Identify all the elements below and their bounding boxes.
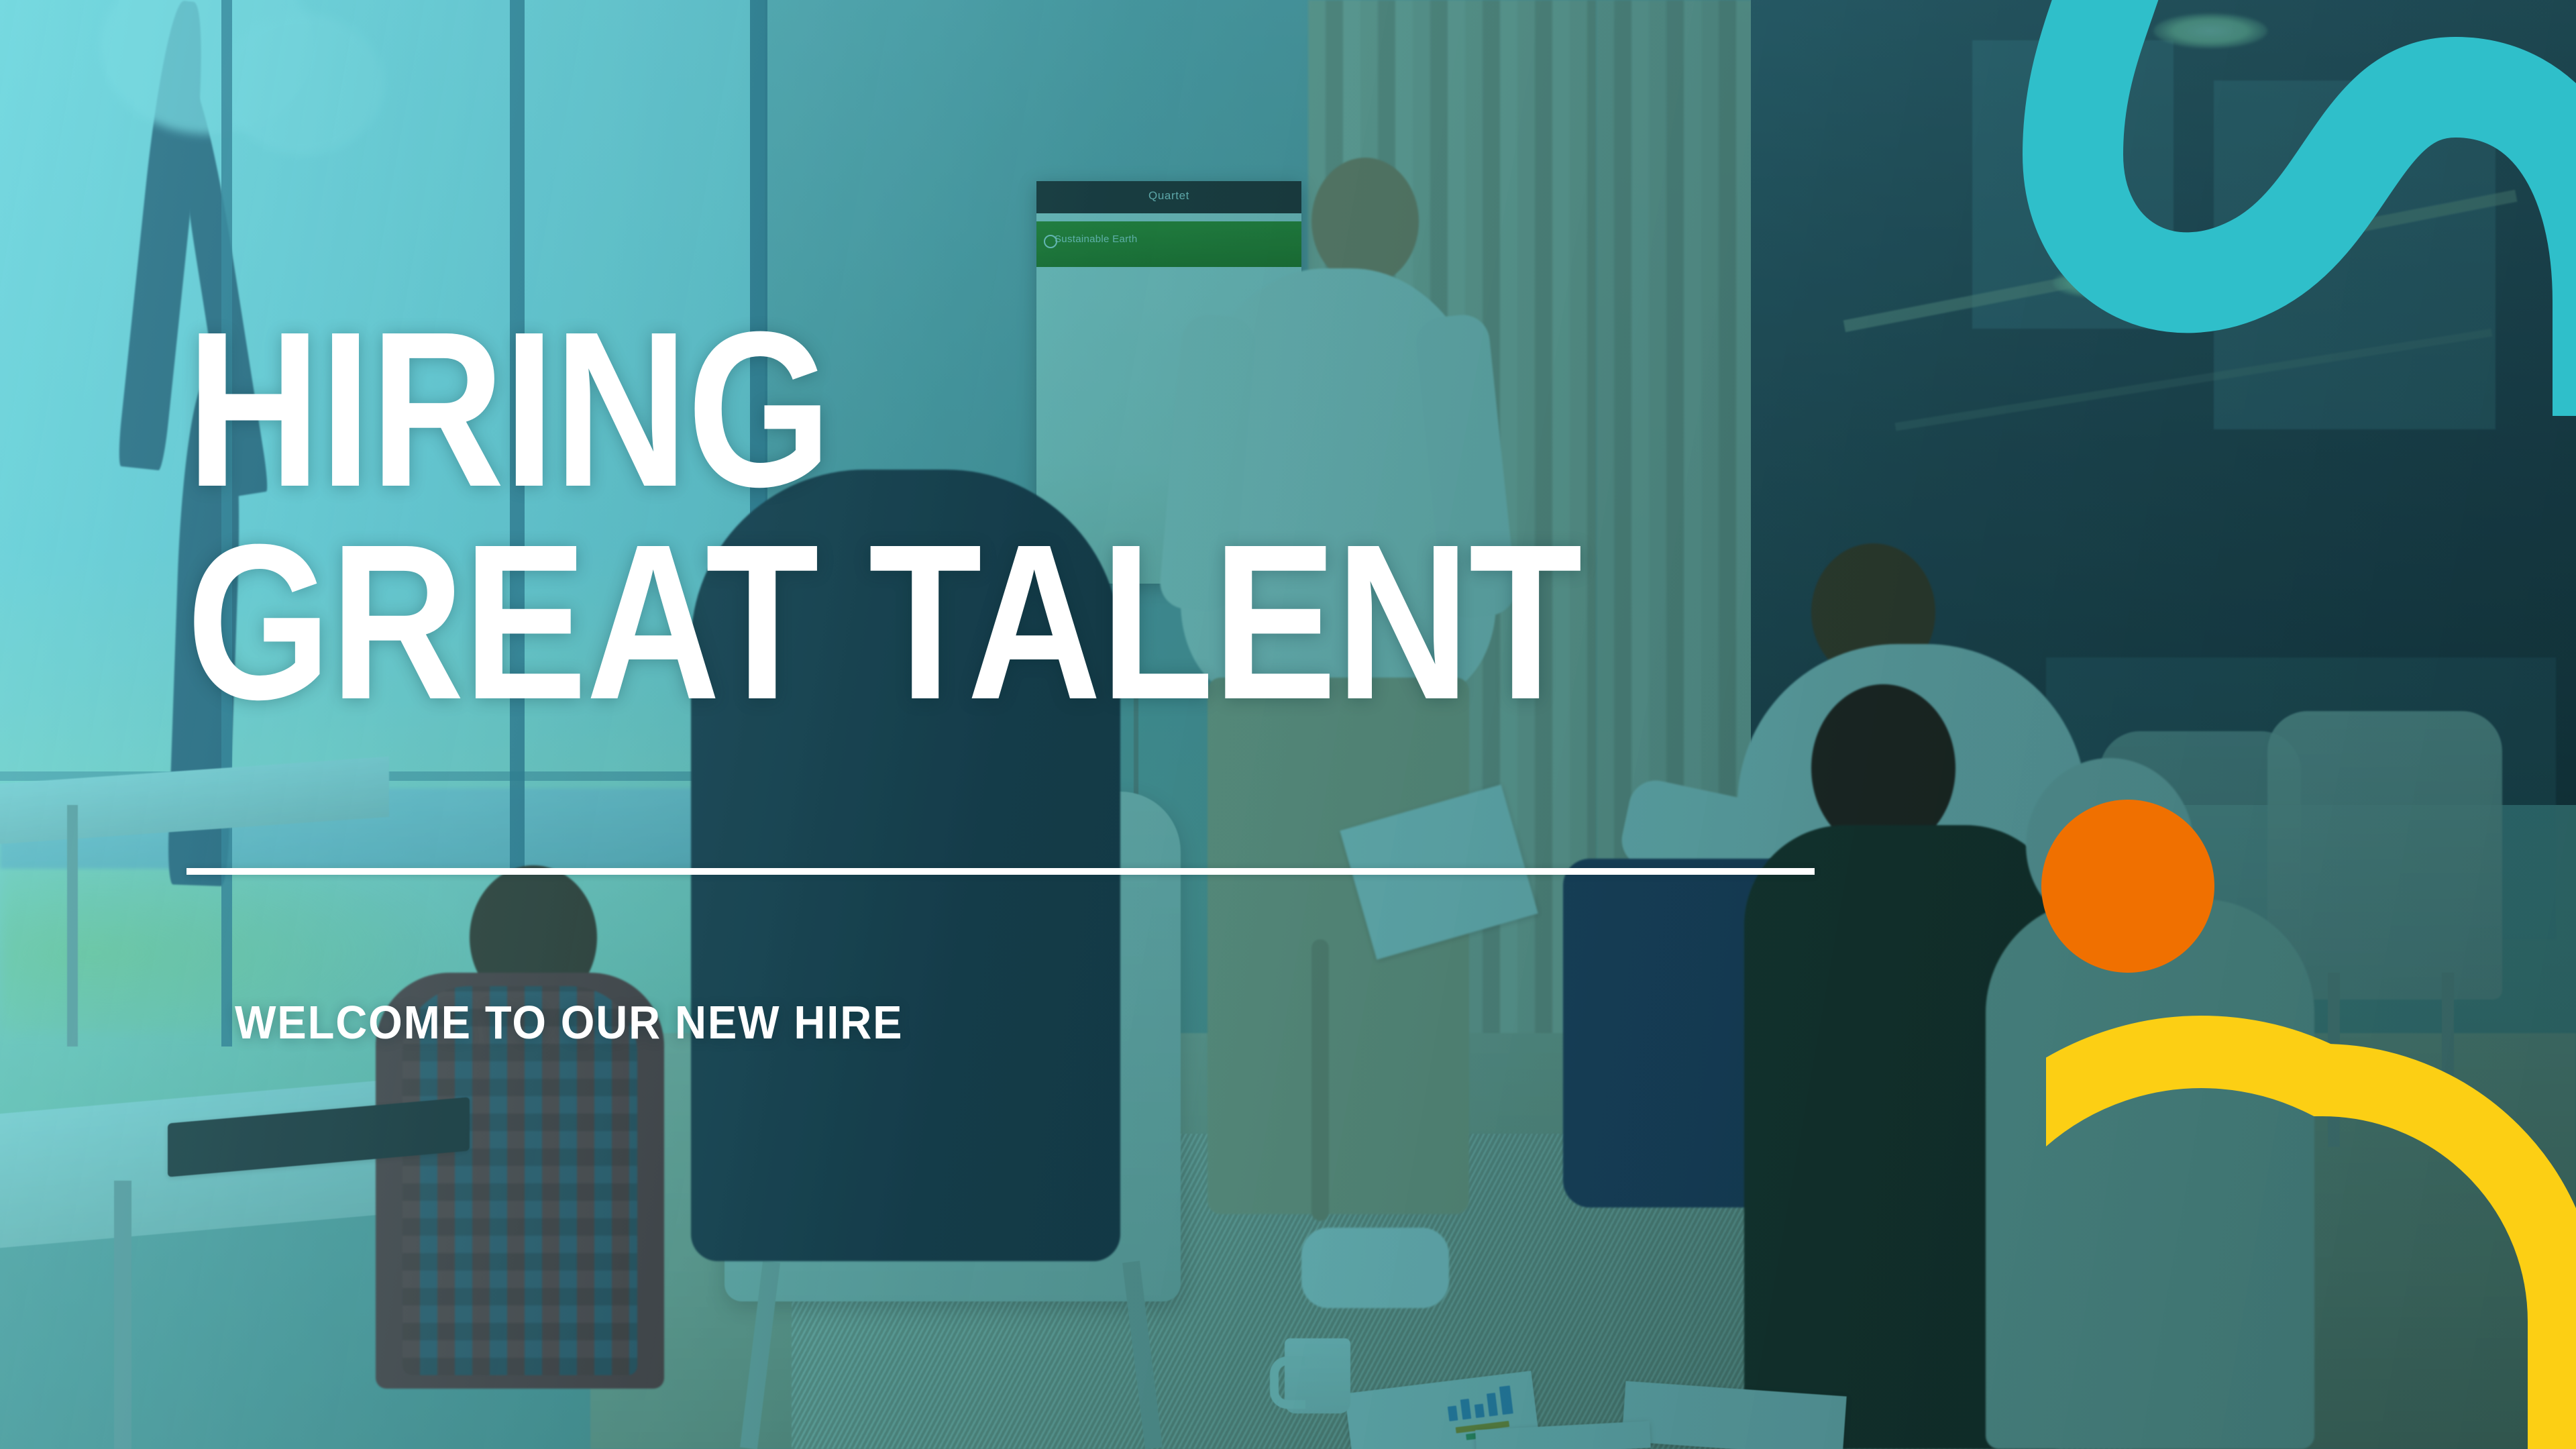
title-divider — [186, 868, 1815, 875]
page-title: HIRINGGREAT TALENT — [186, 303, 1581, 729]
hiring-banner: Quartet Sustainable Earth — [0, 0, 2576, 1449]
headline-line-2: GREAT TALENT — [186, 516, 1581, 729]
orange-circle-shape — [2041, 800, 2214, 973]
subtitle: WELCOME TO OUR NEW HIRE — [235, 996, 903, 1049]
headline-line-1: HIRING — [186, 285, 830, 533]
yellow-arc-shape — [2046, 993, 2576, 1449]
teal-wave-shape — [1945, 0, 2576, 416]
